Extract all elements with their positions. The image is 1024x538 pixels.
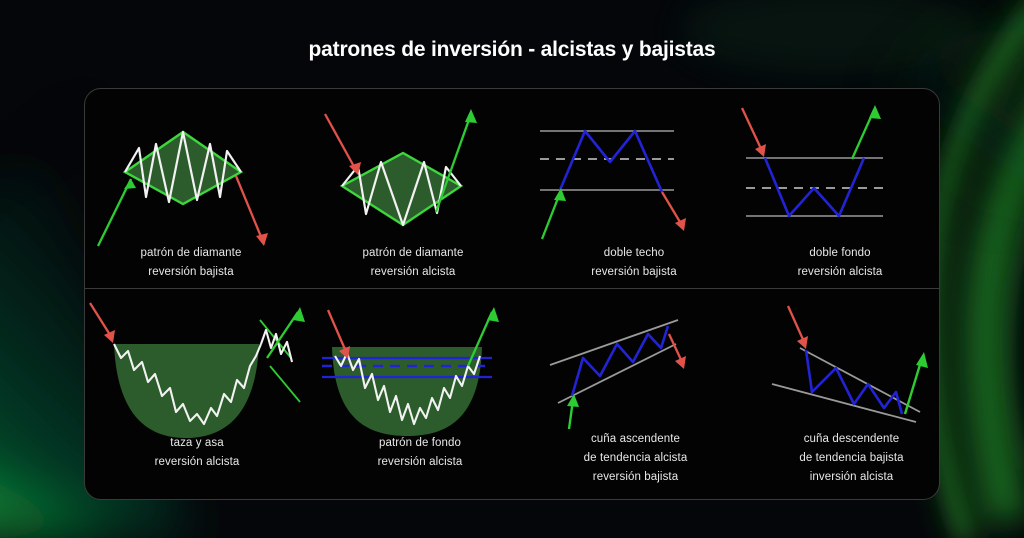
exit-arrow-red-down <box>236 176 268 246</box>
caption-line: patrón de fondo <box>310 434 530 453</box>
caption-line: reversión alcista <box>84 453 310 472</box>
entry-arrow-green-up <box>567 394 579 429</box>
caption-line: reversión bajista <box>528 468 743 487</box>
price-line-m-shape <box>560 131 662 192</box>
caption-double-top: doble techo reversión bajista <box>528 244 740 282</box>
exit-arrow-green-up <box>267 307 305 358</box>
caption-line: inversión alcista <box>744 468 959 487</box>
panel-double-bottom[interactable]: doble fondo reversión alcista <box>734 96 946 286</box>
caption-diamond-bullish: patrón de diamante reversión alcista <box>300 244 526 282</box>
caption-line: patrón de diamante <box>300 244 526 263</box>
entry-arrow-green-up <box>98 179 136 246</box>
trendline-lower <box>772 384 916 422</box>
trendline-lower <box>558 344 676 403</box>
caption-double-bottom: doble fondo reversión alcista <box>734 244 946 282</box>
caption-line: taza y asa <box>84 434 310 453</box>
exit-arrow-red-down <box>669 334 686 369</box>
caption-cup-and-handle: taza y asa reversión alcista <box>84 434 310 472</box>
caption-rounding-bottom: patrón de fondo reversión alcista <box>310 434 530 472</box>
entry-arrow-red-down <box>325 114 361 175</box>
handle-channel-lower <box>270 366 300 402</box>
handle-zigzag <box>261 330 292 362</box>
panel-rising-wedge[interactable]: cuña ascendente de tendencia alcista rev… <box>528 296 743 496</box>
trendline-upper <box>800 348 920 412</box>
exit-arrow-green-up <box>905 352 928 414</box>
caption-line: cuña ascendente <box>528 430 743 449</box>
caption-line: reversión bajista <box>528 263 740 282</box>
caption-diamond-bearish: patrón de diamante reversión bajista <box>84 244 298 282</box>
entry-arrow-red-down <box>90 303 115 343</box>
caption-line: de tendencia bajista <box>744 449 959 468</box>
caption-line: de tendencia alcista <box>528 449 743 468</box>
panel-cup-and-handle[interactable]: taza y asa reversión alcista <box>84 296 310 496</box>
caption-line: reversión bajista <box>84 263 298 282</box>
trendline-upper <box>550 320 678 365</box>
caption-line: doble fondo <box>734 244 946 263</box>
panel-diamond-bearish[interactable]: patrón de diamante reversión bajista <box>84 96 298 286</box>
caption-line: reversión alcista <box>300 263 526 282</box>
panel-rounding-bottom[interactable]: patrón de fondo reversión alcista <box>310 296 530 496</box>
bottom-shape <box>332 347 482 436</box>
entry-arrow-red-down <box>788 306 808 349</box>
entry-arrow-red-down <box>742 108 766 157</box>
exit-arrow-green-up <box>436 109 477 212</box>
panel-falling-wedge[interactable]: cuña descendente de tendencia bajista in… <box>744 296 959 496</box>
caption-line: doble techo <box>528 244 740 263</box>
exit-arrow-green-up <box>852 105 881 159</box>
caption-line: cuña descendente <box>744 430 959 449</box>
panel-double-top[interactable]: doble techo reversión bajista <box>528 96 740 286</box>
cup-shape <box>114 344 259 438</box>
exit-arrow-red-down <box>662 192 686 231</box>
price-line <box>572 326 668 396</box>
caption-line: reversión alcista <box>734 263 946 282</box>
caption-line: patrón de diamante <box>84 244 298 263</box>
entry-arrow-green-up <box>542 188 566 239</box>
handle-channel-upper <box>260 320 291 358</box>
caption-line: reversión alcista <box>310 453 530 472</box>
panel-diamond-bullish[interactable]: patrón de diamante reversión alcista <box>300 96 526 286</box>
caption-rising-wedge: cuña ascendente de tendencia alcista rev… <box>528 430 743 487</box>
caption-falling-wedge: cuña descendente de tendencia bajista in… <box>744 430 959 487</box>
